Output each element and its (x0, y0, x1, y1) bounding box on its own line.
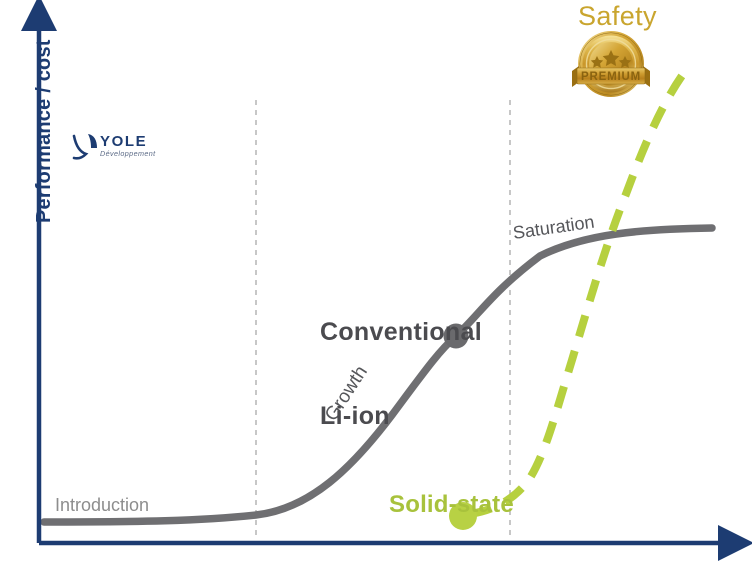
badge-ribbon-text: PREMIUM (581, 71, 641, 83)
badge-scallop-ring (578, 31, 644, 97)
badge-label-safety: Safety (578, 1, 657, 31)
yole-logo-tagline: Développement (100, 149, 156, 158)
y-axis-title: Performance / cost (33, 1, 55, 261)
badge-ribbon: PREMIUM (572, 66, 650, 87)
series-label-conventional-line2: Li-ion (320, 402, 482, 430)
premium-safety-badge: PREMIUM (569, 26, 653, 104)
chart-canvas: YOLE Développement PREMIUM Perf (0, 0, 752, 571)
yole-logo: YOLE Développement (70, 126, 170, 166)
yole-logo-wordmark: YOLE (100, 133, 147, 150)
series-label-conventional-line1: Conventional (320, 318, 482, 346)
series-label-solid-state-battery: Solid-state battery (389, 438, 514, 571)
phase-label-introduction: Introduction (55, 495, 149, 515)
series-label-solidstate-line1: Solid-state (389, 492, 514, 519)
